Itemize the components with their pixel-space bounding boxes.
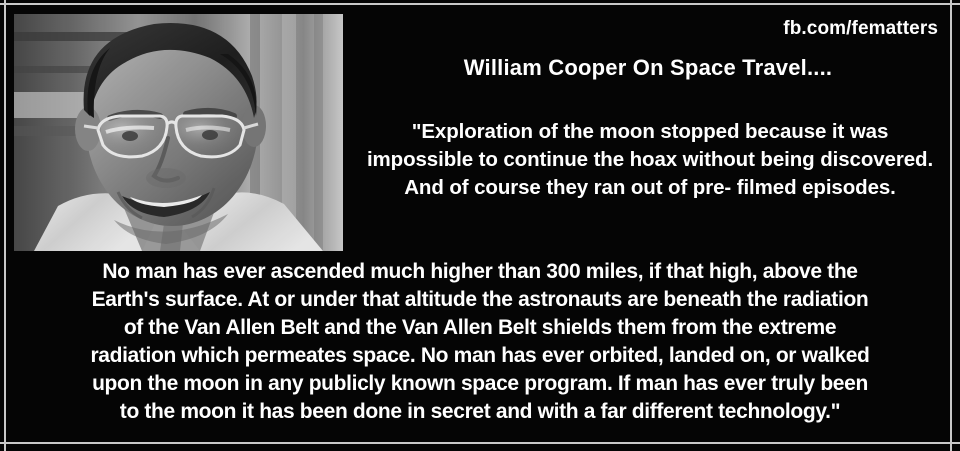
headline-title: William Cooper On Space Travel.... xyxy=(352,55,944,81)
frame-border-top xyxy=(0,3,960,5)
quote-line: impossible to continue the hoax without … xyxy=(367,148,815,171)
portrait-photo xyxy=(14,14,343,251)
body-quote-block: No man has ever ascended much higher tha… xyxy=(12,258,948,426)
facebook-handle-watermark: fb.com/fematters xyxy=(783,18,938,40)
frame-border-right xyxy=(950,0,952,451)
body-line: radiation which permeates space. No man … xyxy=(12,342,948,370)
quote-line: "Exploration of the moon stopped because… xyxy=(412,120,889,143)
meme-image: fb.com/fematters William Cooper On Space… xyxy=(0,0,960,451)
body-line: No man has ever ascended much higher tha… xyxy=(12,258,948,286)
body-line: upon the moon in any publicly known spac… xyxy=(12,370,948,398)
quote-line: filmed episodes. xyxy=(737,176,896,199)
frame-border-left xyxy=(4,0,6,451)
body-line: Earth's surface. At or under that altitu… xyxy=(12,286,948,314)
body-line: of the Van Allen Belt and the Van Allen … xyxy=(12,314,948,342)
top-quote-block: "Exploration of the moon stopped because… xyxy=(356,118,944,202)
body-line: to the moon it has been done in secret a… xyxy=(12,398,948,426)
frame-border-bottom xyxy=(0,442,960,444)
